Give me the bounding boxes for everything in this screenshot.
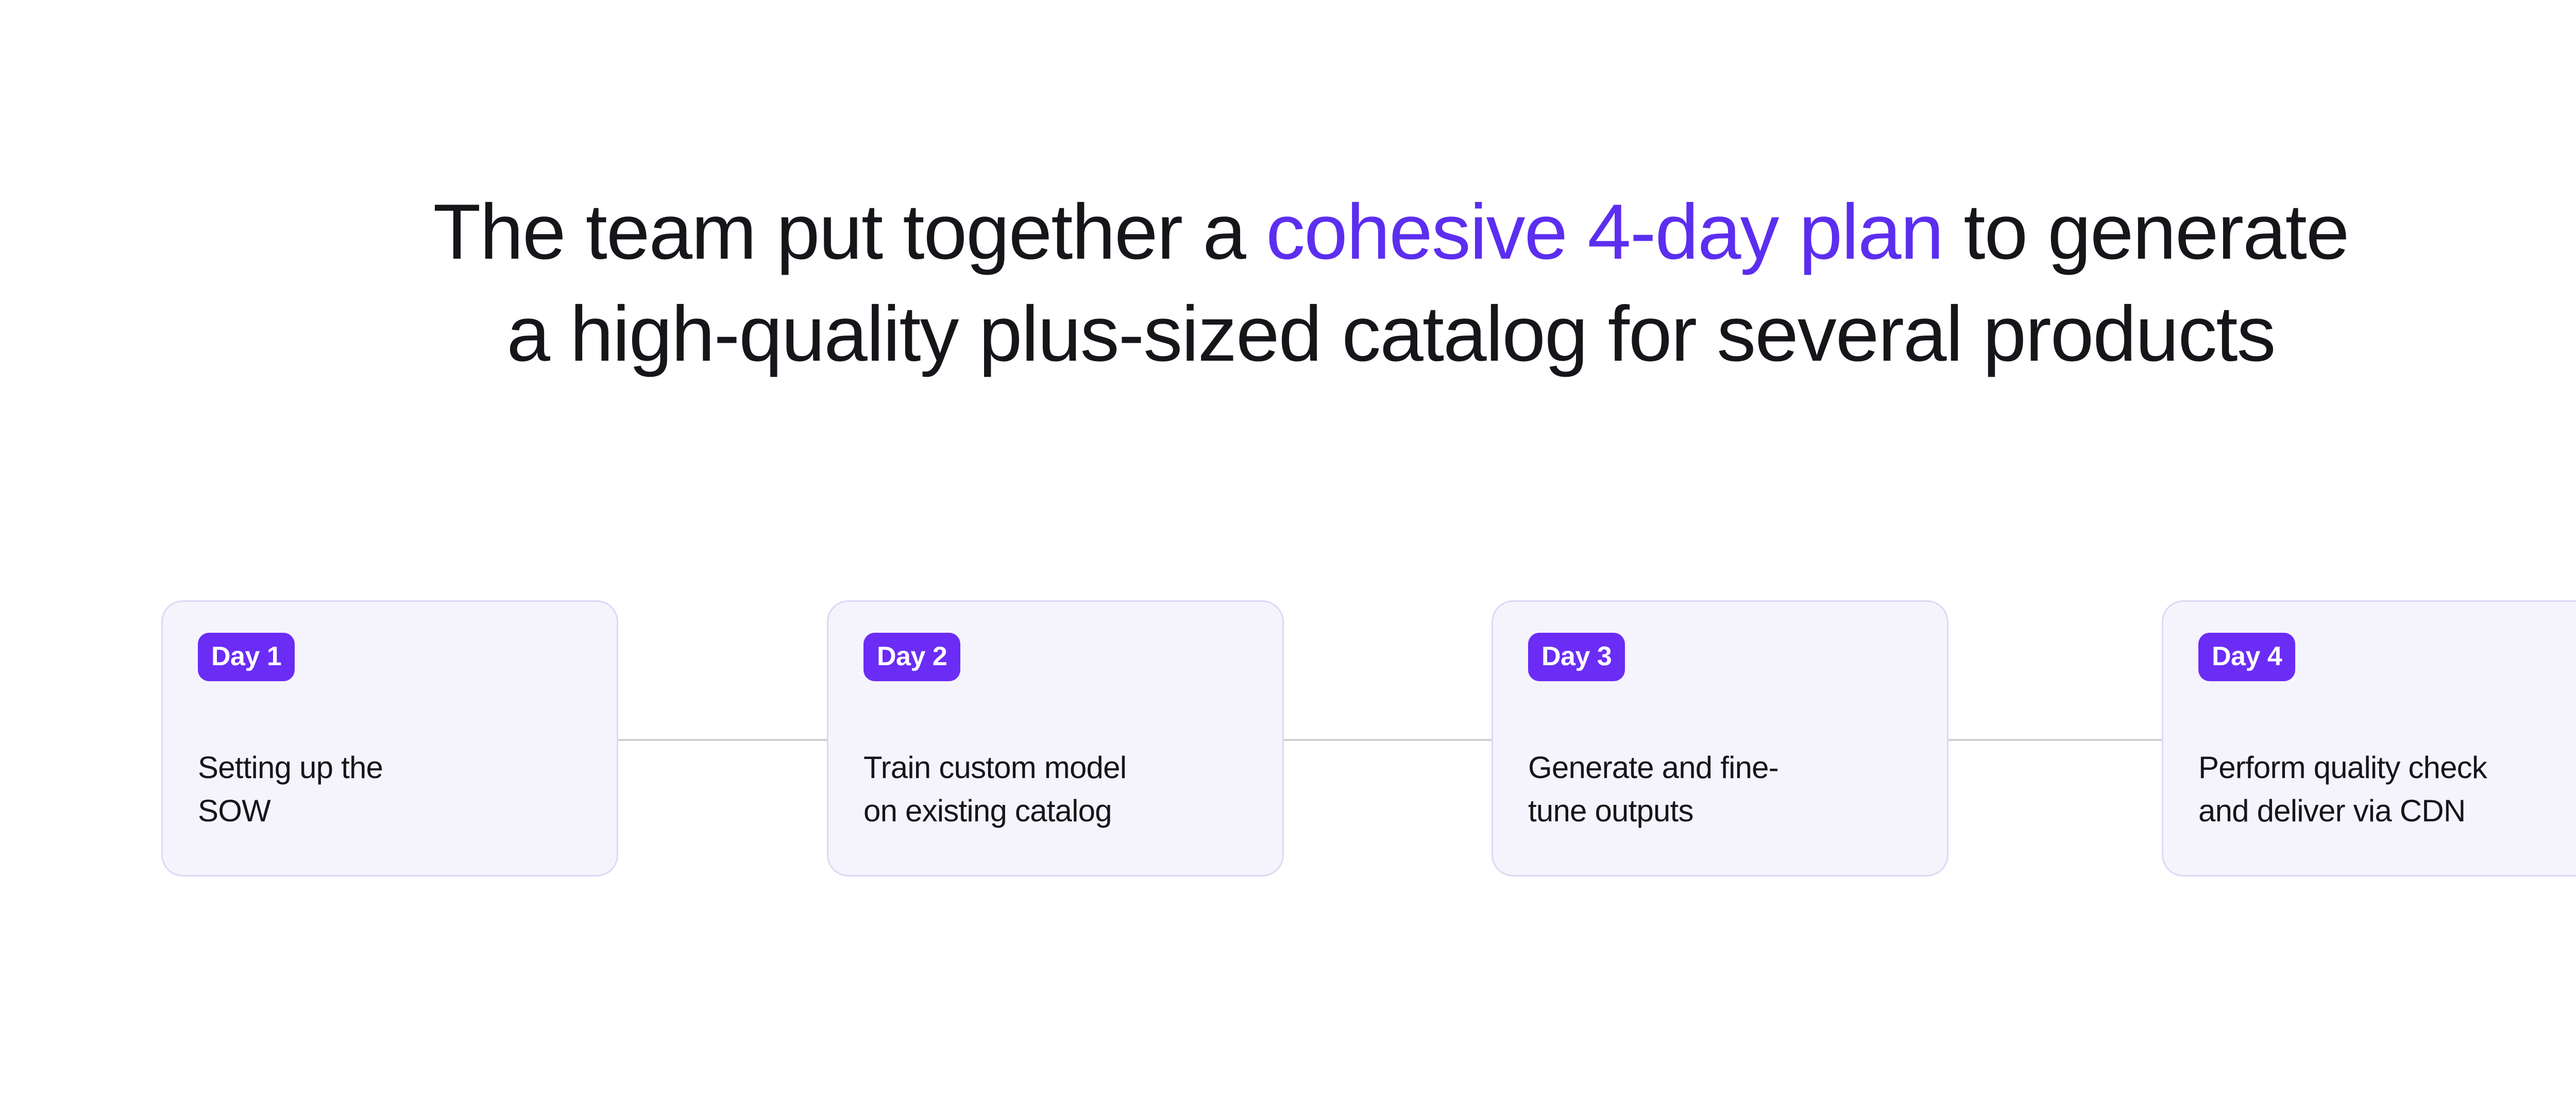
card-spacer bbox=[2198, 681, 2576, 746]
card-description-2: Train custom model on existing catalog bbox=[863, 746, 1247, 846]
timeline-card-day-4[interactable]: Day 4 Perform quality check and deliver … bbox=[2162, 600, 2576, 876]
timeline: Day 1 Setting up the SOW Day 2 Train cus… bbox=[161, 600, 2576, 876]
connector-line-3-4 bbox=[1945, 739, 2167, 741]
heading-block: The team put together a cohesive 4-day p… bbox=[0, 181, 2576, 385]
card-spacer bbox=[863, 681, 1247, 746]
timeline-card-day-1[interactable]: Day 1 Setting up the SOW bbox=[161, 600, 618, 876]
timeline-card-day-3[interactable]: Day 3 Generate and fine- tune outputs bbox=[1492, 600, 1948, 876]
heading-line-1: The team put together a cohesive 4-day p… bbox=[0, 181, 2576, 283]
card-description-4: Perform quality check and deliver via CD… bbox=[2198, 746, 2576, 846]
timeline-card-day-2[interactable]: Day 2 Train custom model on existing cat… bbox=[827, 600, 1284, 876]
day-badge-2: Day 2 bbox=[863, 633, 960, 681]
page-title: The team put together a cohesive 4-day p… bbox=[0, 181, 2576, 385]
day-badge-1: Day 1 bbox=[198, 633, 295, 681]
day-badge-3: Day 3 bbox=[1528, 633, 1625, 681]
card-description-1: Setting up the SOW bbox=[198, 746, 582, 846]
heading-line1-suffix: to generate bbox=[1943, 188, 2348, 276]
connector-line-1-2 bbox=[615, 739, 837, 741]
day-badge-4: Day 4 bbox=[2198, 633, 2295, 681]
connector-line-2-3 bbox=[1280, 739, 1503, 741]
card-description-3: Generate and fine- tune outputs bbox=[1528, 746, 1912, 846]
heading-line-2: a high-quality plus-sized catalog for se… bbox=[0, 283, 2576, 385]
heading-line1-prefix: The team put together a bbox=[433, 188, 1266, 276]
card-spacer bbox=[1528, 681, 1912, 746]
card-spacer bbox=[198, 681, 582, 746]
slide-canvas: The team put together a cohesive 4-day p… bbox=[0, 0, 2576, 1113]
heading-accent-phrase: cohesive 4-day plan bbox=[1266, 188, 1943, 276]
